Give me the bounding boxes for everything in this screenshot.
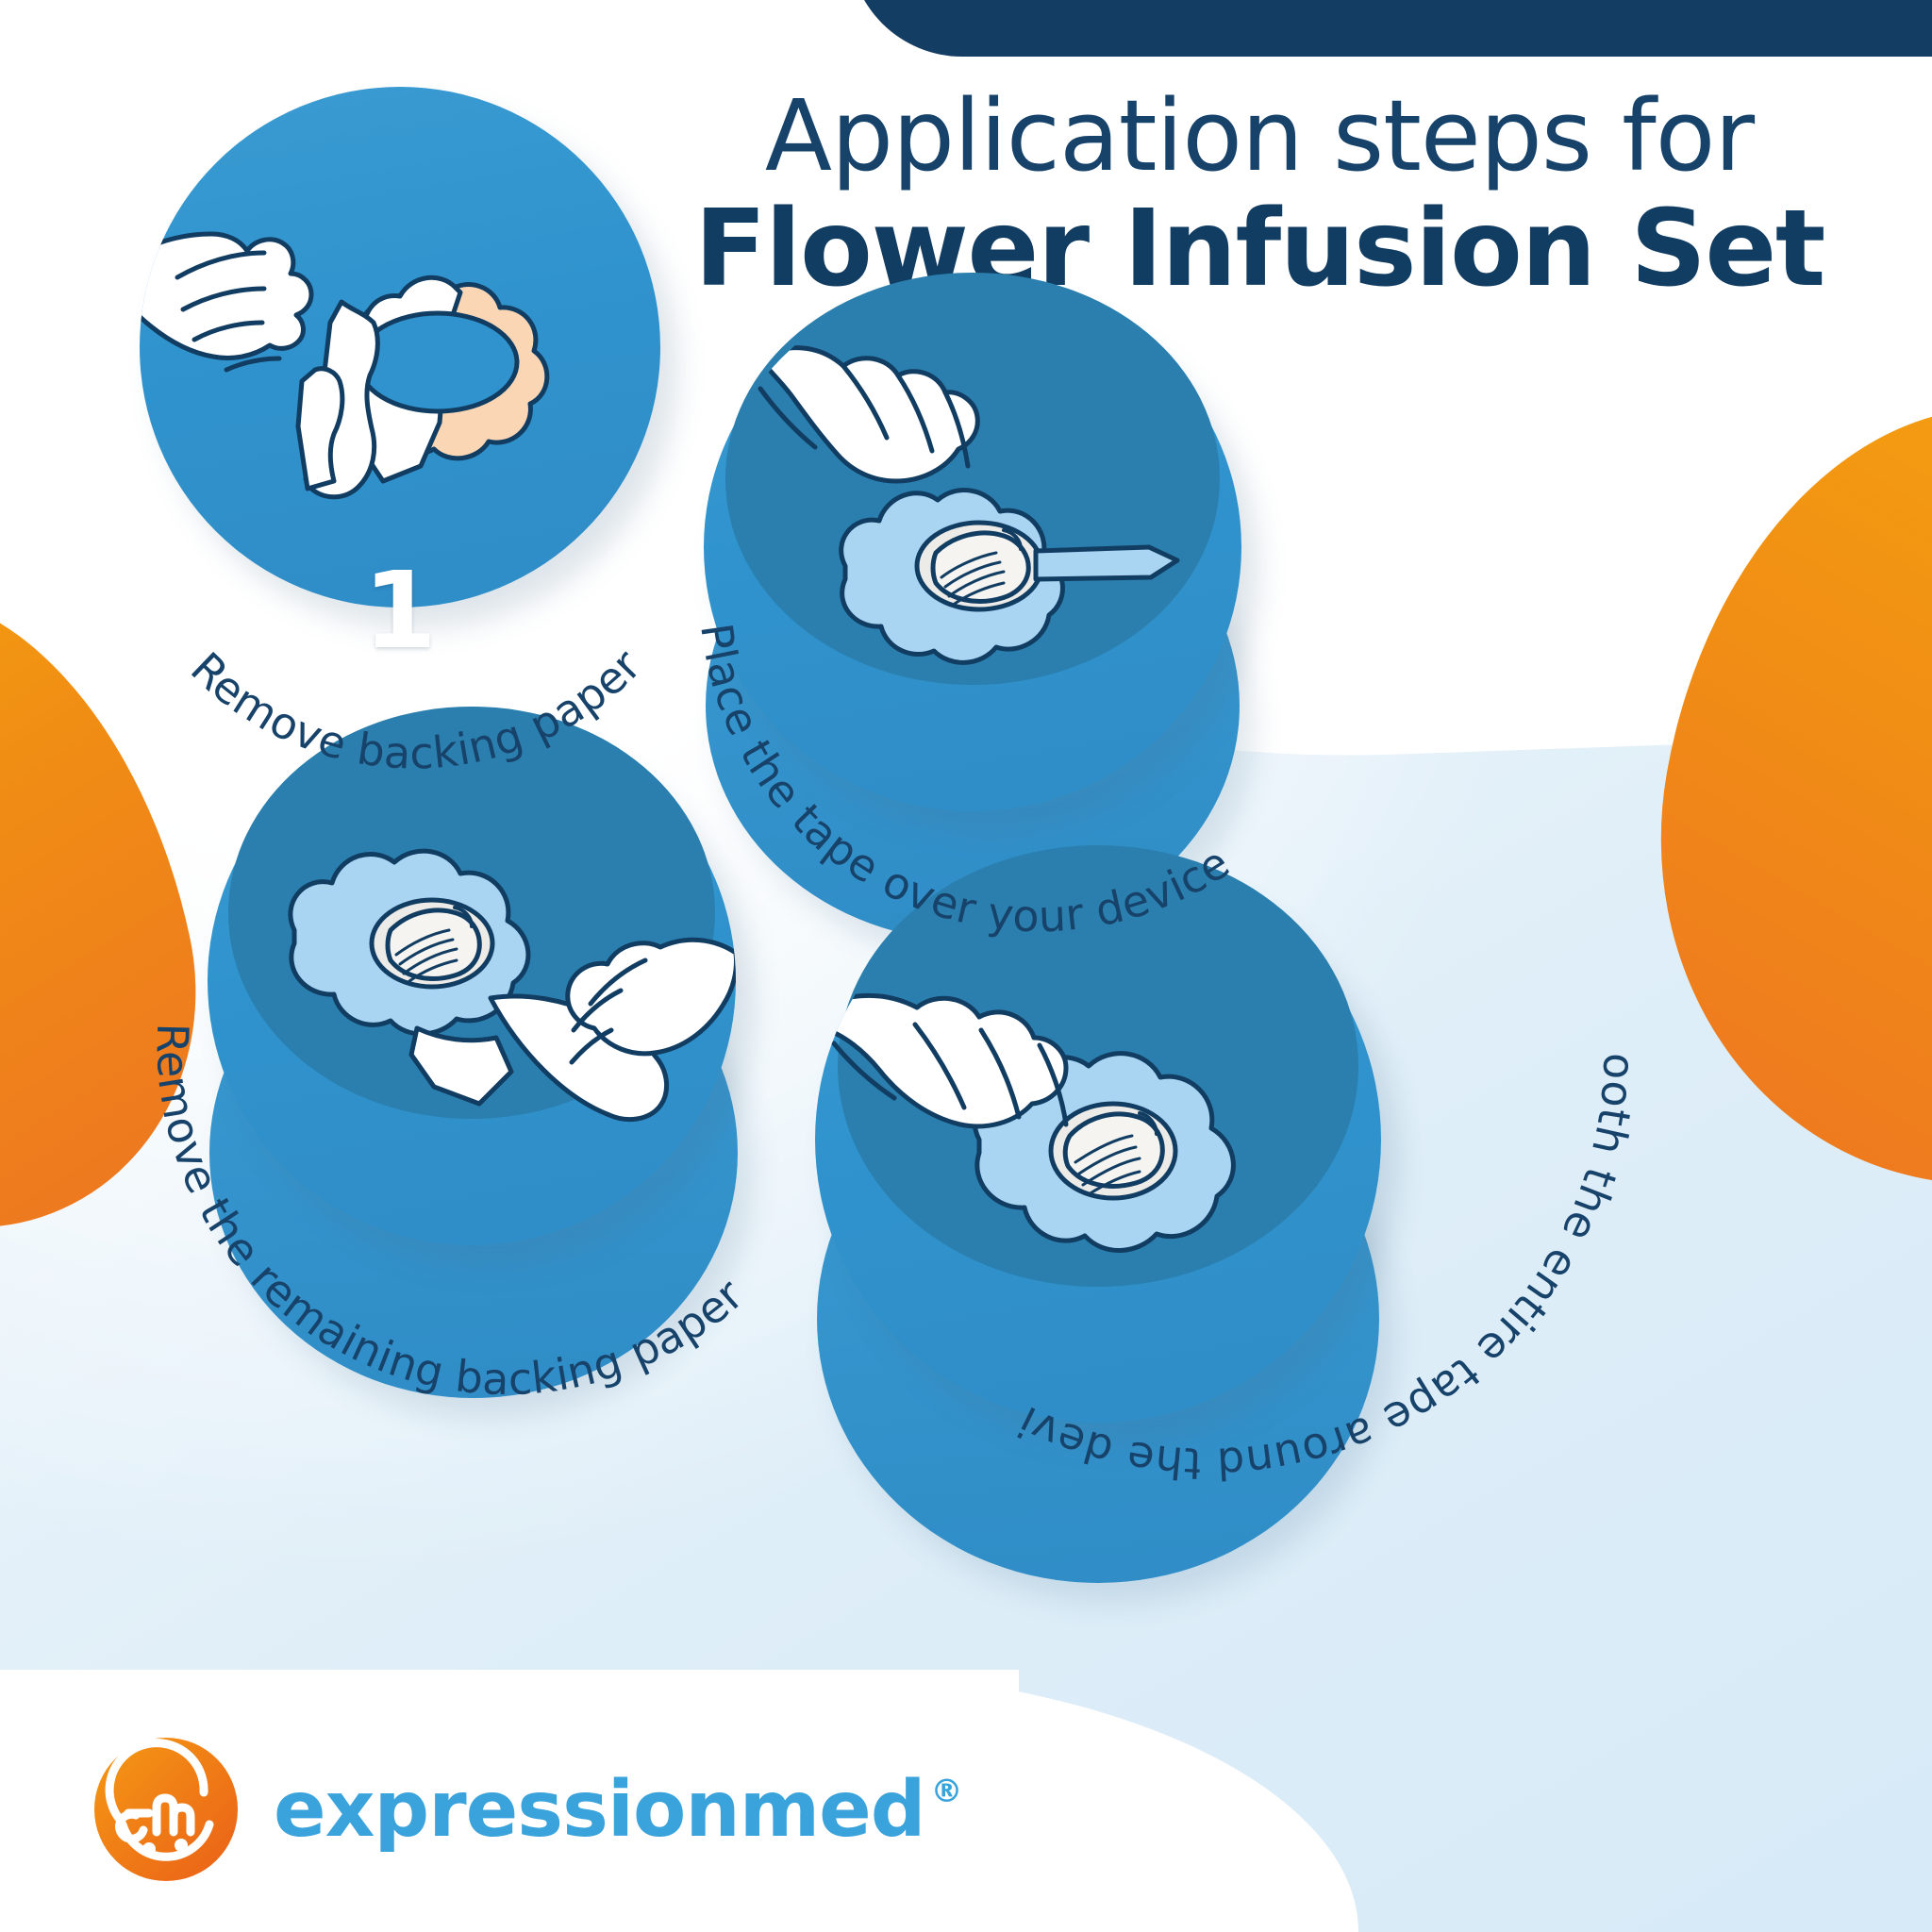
infographic-poster: Application steps for Flower Infusion Se… xyxy=(0,0,1932,1932)
brand-wordmark: expressionmed ® xyxy=(274,1765,961,1855)
svg-text:Smooth the entire tape around: Smooth the entire tape around the device xyxy=(978,988,1644,1490)
step-2-caption: Place the tape over your device xyxy=(660,528,1302,924)
step-1-caption: Remove backing paper xyxy=(113,509,717,792)
title-line-1: Application steps for xyxy=(604,87,1915,185)
brand-name-text: expressionmed xyxy=(274,1765,924,1855)
navy-top-bar xyxy=(849,0,1932,57)
svg-text:Remove backing paper: Remove backing paper xyxy=(181,640,651,779)
step-2-caption-text: Place the tape over your device xyxy=(691,620,1239,941)
step-4-caption: Smooth the entire tape around the device xyxy=(1000,1028,1660,1575)
svg-text:Place the tape over your devic: Place the tape over your device xyxy=(691,620,1239,941)
step-1-caption-text: Remove backing paper xyxy=(181,640,651,779)
em-smiley-icon xyxy=(91,1734,241,1885)
poster-title: Application steps for Flower Infusion Se… xyxy=(604,87,1915,308)
step-3-caption: Remove the remaining backing paper xyxy=(142,943,802,1358)
step-4-caption-text: Smooth the entire tape around the device xyxy=(978,988,1644,1490)
registered-trademark-icon: ® xyxy=(930,1773,961,1810)
svg-text:Remove the remaining backing p: Remove the remaining backing paper xyxy=(147,1023,754,1405)
brand-logo[interactable]: expressionmed ® xyxy=(91,1734,961,1885)
step-3-caption-text: Remove the remaining backing paper xyxy=(147,1023,754,1405)
